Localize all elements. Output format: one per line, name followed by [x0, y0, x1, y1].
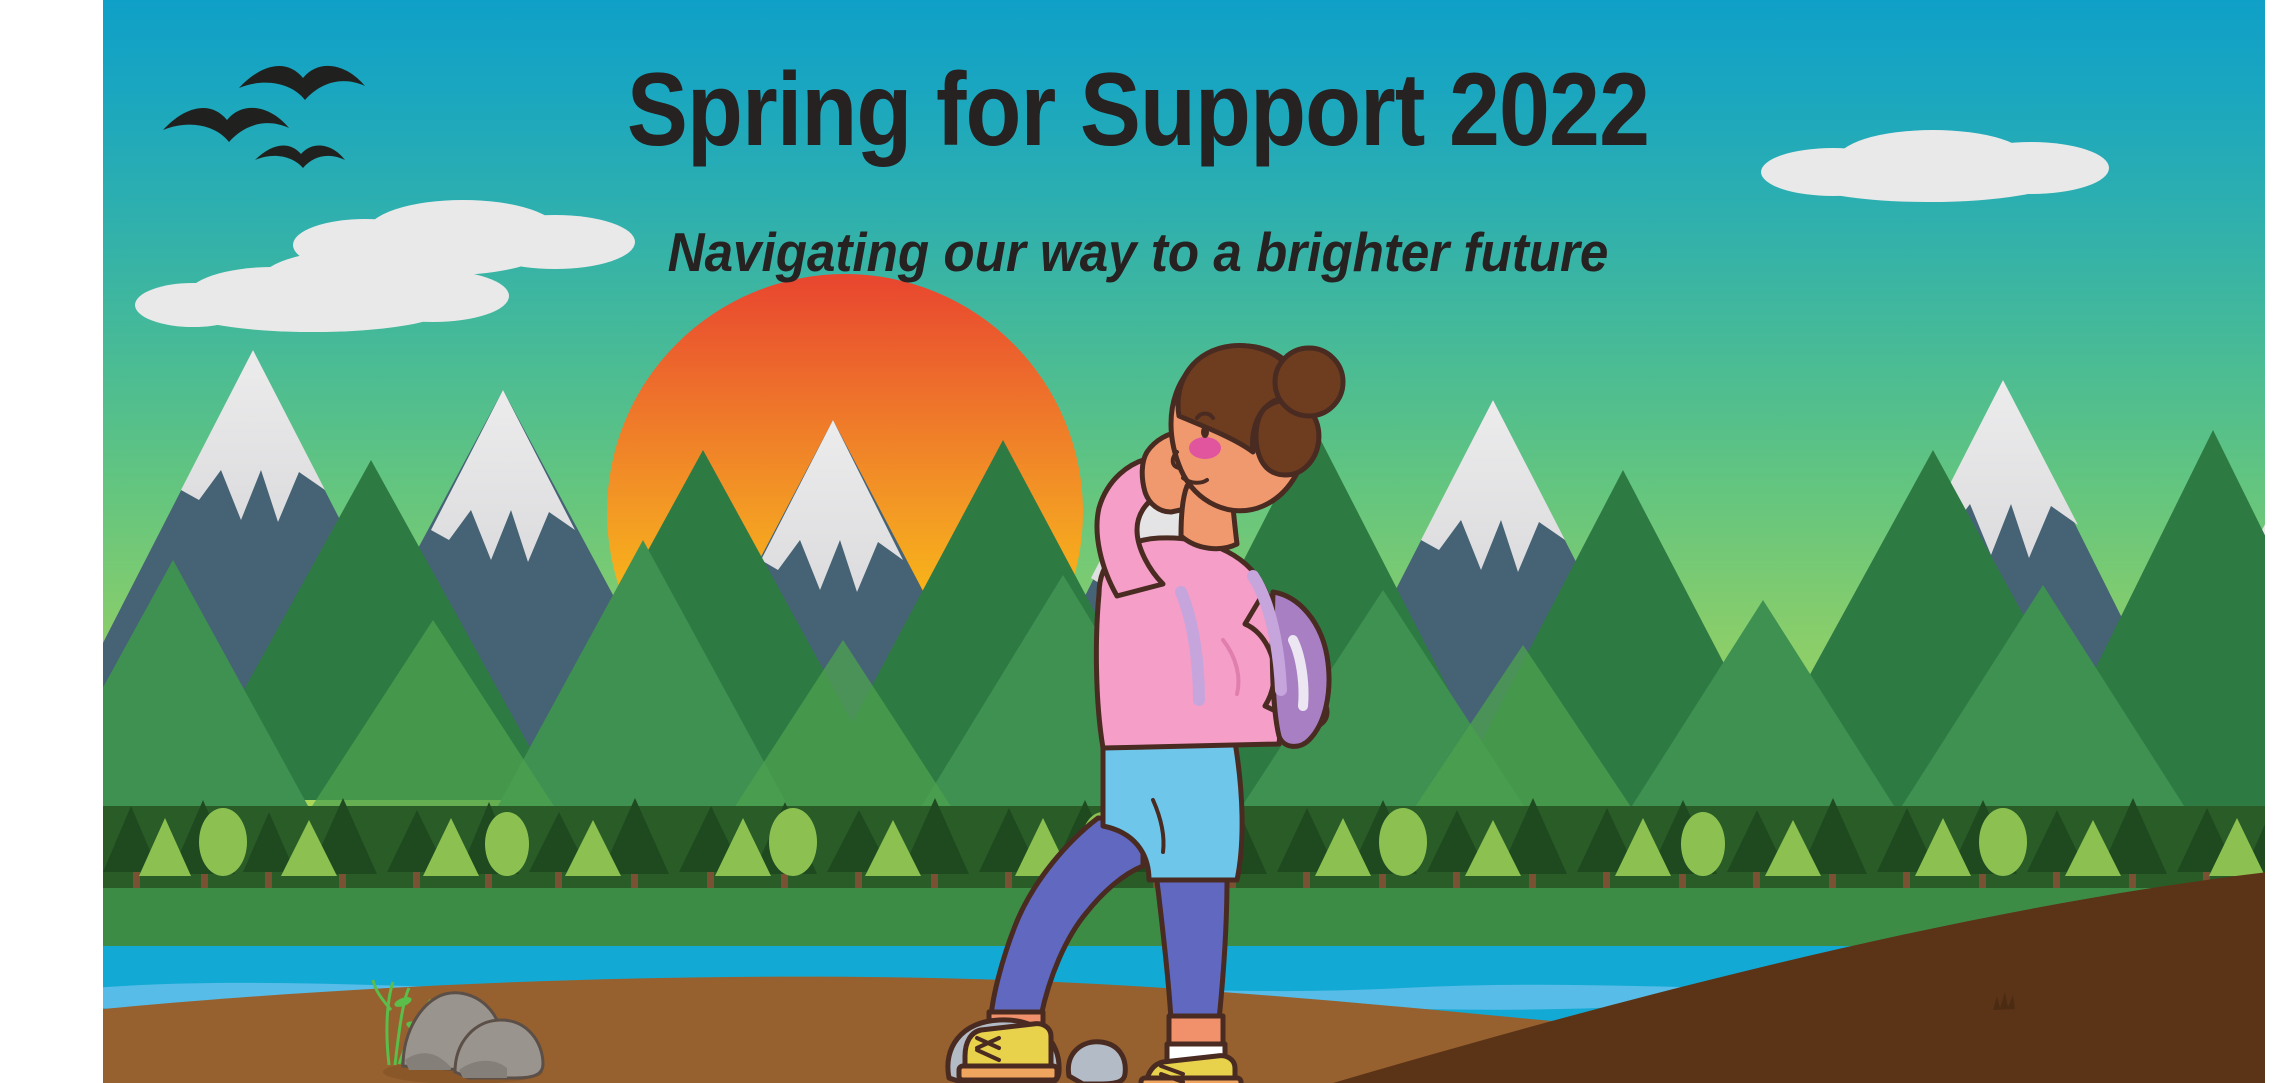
- bird-2-icon: [163, 108, 289, 142]
- bird-flock: [163, 66, 365, 168]
- birds-layer: [103, 0, 2265, 1083]
- bird-3-icon: [255, 145, 345, 168]
- bird-1-icon: [239, 66, 365, 100]
- scene-canvas: [103, 0, 2265, 1083]
- banner-image: Spring for Support 2022 Navigating our w…: [0, 0, 2276, 1083]
